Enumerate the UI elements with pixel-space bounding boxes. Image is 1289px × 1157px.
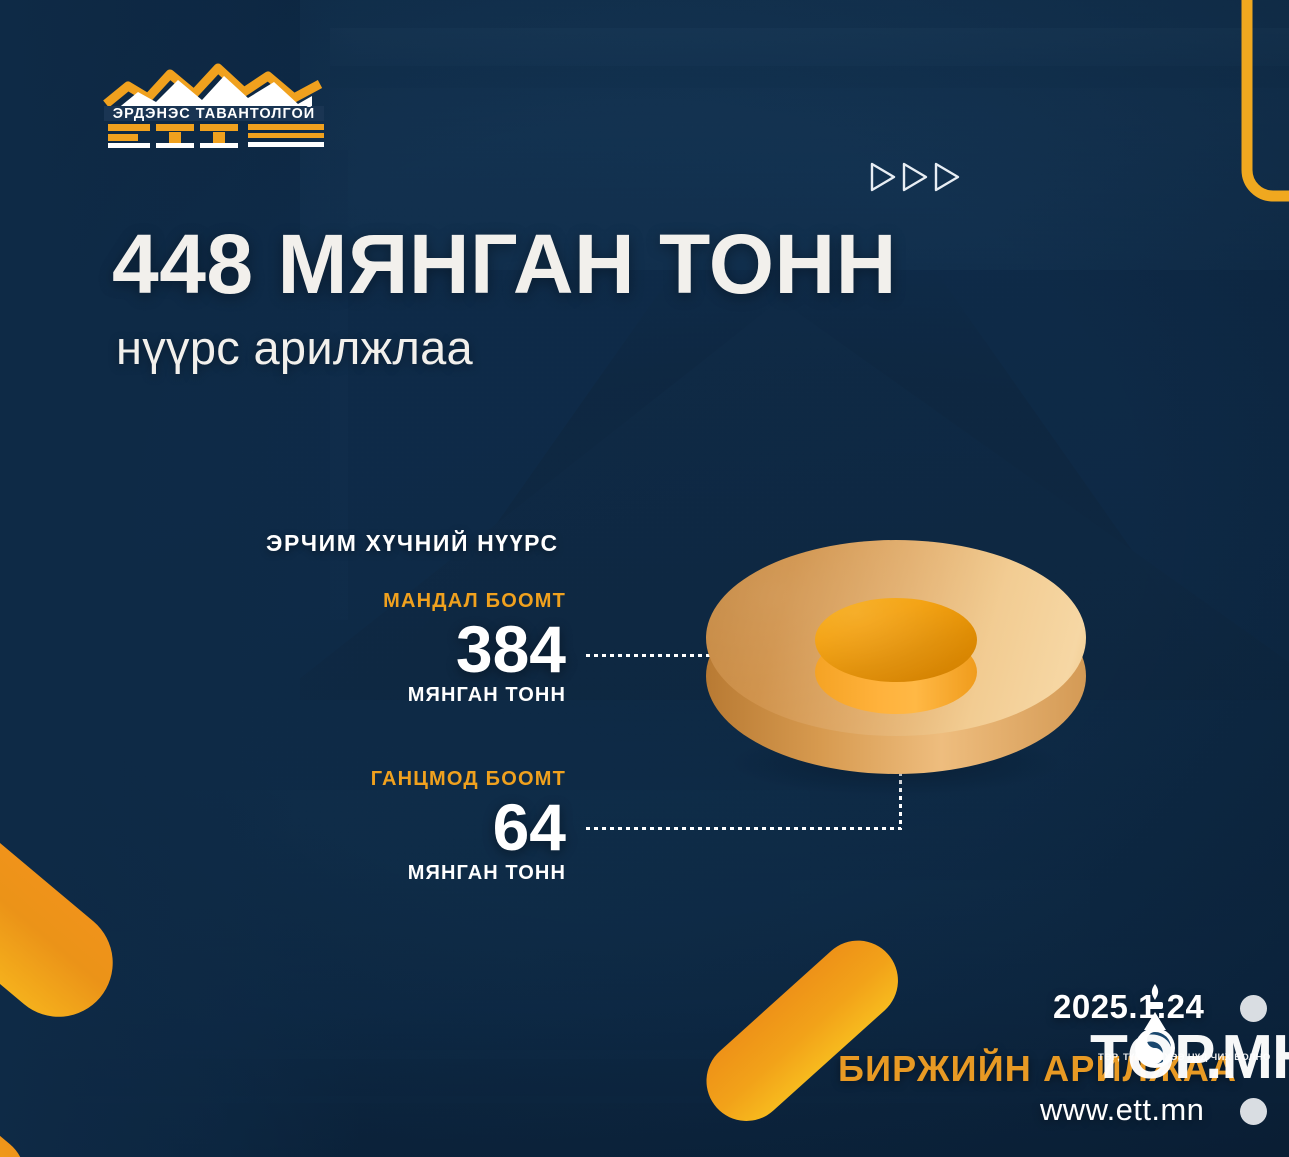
headline-sub: нүүрс арилжлаа [116,320,1062,375]
stat-port-label: ГАНЦМОД БООМТ [236,768,566,791]
stat-value: 64 [236,795,566,860]
infographic-poster: ЭРДЭНЭС ТАВАНТОЛГОЙ [0,0,1289,1157]
headline-block: 448 МЯНГАН ТОНН нүүрс арилжлаа [112,222,1062,375]
stat-unit-label: МЯНГАН ТОНН [236,862,566,885]
stat-block-gantsmod: ГАНЦМОД БООМТ 64 МЯНГАН ТОНН [236,768,566,885]
inner-disc-top-gantsmod [815,598,977,682]
ett-logo[interactable]: ЭРДЭНЭС ТАВАНТОЛГОЙ [98,58,330,150]
stat-unit-label: МЯНГАН ТОНН [236,684,566,707]
chart-section-title: ЭРЧИМ ХҮЧНИЙ НҮҮРС [266,530,559,557]
stat-block-mandal: МАНДАЛ БООМТ 384 МЯНГАН ТОНН [236,590,566,707]
svg-text:ЭРДЭНЭС ТАВАНТОЛГОЙ: ЭРДЭНЭС ТАВАНТОЛГОЙ [113,104,315,122]
headline-main: 448 МЯНГАН ТОНН [112,222,1062,308]
triple-chevron-right-icon [868,160,968,194]
watermark-slogan: ТӨР, ТҮМНИЙХЭЭ НҮД ЧИХ БОЛНО [1098,1052,1271,1063]
decorative-dot-lower [1240,1098,1267,1125]
decorative-dot-upper [1240,995,1267,1022]
leader-line-gantsmod [586,827,901,830]
stat-value: 384 [236,617,566,682]
corner-hook-icon [1197,0,1289,224]
donut-chart-3d [706,540,1086,790]
stat-port-label: МАНДАЛ БООМТ [236,590,566,613]
